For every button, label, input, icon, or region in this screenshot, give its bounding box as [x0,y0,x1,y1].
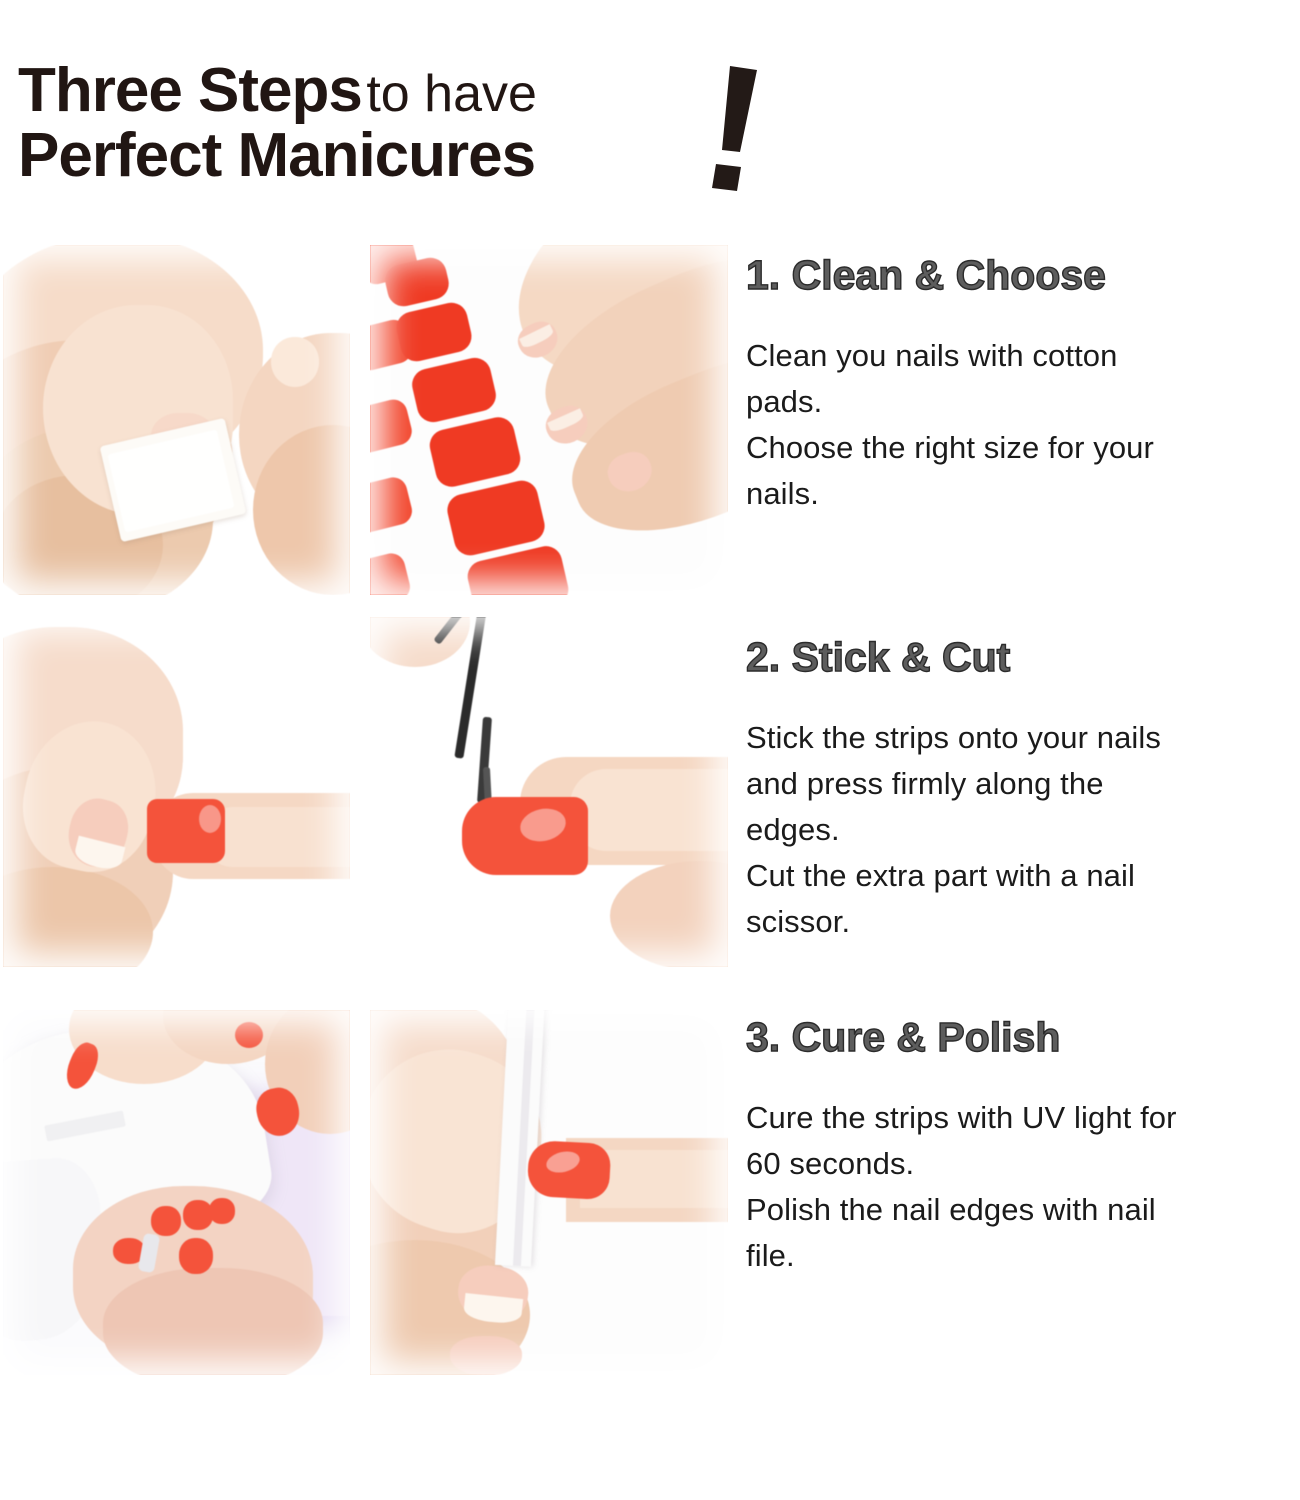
nail-strip-sheet-photo [370,245,728,595]
step-2-line-2: and press firmly along the [746,761,1300,807]
infographic-page: Three Steps to have Perfect Manicures [0,0,1300,1500]
cotton-pad-cleaning-photo [3,245,350,595]
step-3-block: 3. Cure & Polish Cure the strips with UV… [746,1014,1300,1279]
step-1-line-4: nails. [746,471,1300,517]
step-3-title: 3. Cure & Polish [746,1014,1300,1061]
step-1-body: Clean you nails with cotton pads. Choose… [746,333,1300,517]
step-2-line-5: scissor. [746,899,1300,945]
uv-lamp-curing-photo [3,1010,350,1375]
step-1-line-3: Choose the right size for your [746,425,1300,471]
step-1-line-2: pads. [746,379,1300,425]
step-2-line-3: edges. [746,807,1300,853]
nail-file-polishing-photo [370,1010,728,1375]
step-3-line-4: file. [746,1233,1300,1279]
step-2-line-4: Cut the extra part with a nail [746,853,1300,899]
step-1-block: 1. Clean & Choose Clean you nails with c… [746,252,1300,517]
page-title: Three Steps to have Perfect Manicures [18,58,778,188]
headline-strong-1: Three Steps [18,56,362,125]
applying-strip-photo [3,617,350,967]
photo-grid [0,245,730,1375]
headline-strong-2: Perfect Manicures [18,121,535,190]
step-3-line-3: Polish the nail edges with nail [746,1187,1300,1233]
step-2-block: 2. Stick & Cut Stick the strips onto you… [746,634,1300,945]
step-3-line-1: Cure the strips with UV light for [746,1095,1300,1141]
step-3-body: Cure the strips with UV light for 60 sec… [746,1095,1300,1279]
step-2-title: 2. Stick & Cut [746,634,1300,681]
step-2-line-1: Stick the strips onto your nails [746,715,1300,761]
step-3-line-2: 60 seconds. [746,1141,1300,1187]
step-2-body: Stick the strips onto your nails and pre… [746,715,1300,945]
exclamation-mark-icon [700,64,770,194]
trimming-scissor-photo [370,617,728,967]
step-1-line-1: Clean you nails with cotton [746,333,1300,379]
step-1-title: 1. Clean & Choose [746,252,1300,299]
headline-line-2: Perfect Manicures [18,123,778,188]
headline-light-1: to have [366,65,537,123]
headline-line-1: Three Steps to have [18,58,778,123]
